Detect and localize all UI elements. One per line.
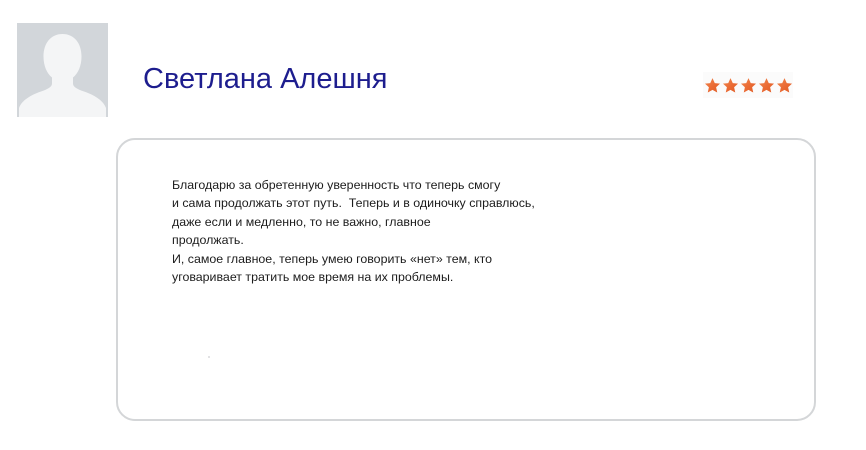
testimonial-body: Благодарю за обретенную уверенность что … bbox=[172, 176, 772, 286]
profile-header: Светлана Алешня bbox=[0, 0, 866, 130]
star-icon bbox=[776, 77, 793, 93]
reviewer-name: Светлана Алешня bbox=[143, 61, 387, 97]
star-icon bbox=[740, 77, 757, 93]
star-icon bbox=[704, 77, 721, 93]
rating-stars bbox=[703, 72, 793, 98]
testimonial-card: Благодарю за обретенную уверенность что … bbox=[116, 138, 816, 421]
stray-mark bbox=[208, 356, 210, 358]
avatar bbox=[17, 23, 108, 117]
star-icon bbox=[722, 77, 739, 93]
testimonial-page: Светлана Алешня bbox=[0, 0, 866, 450]
person-placeholder-icon bbox=[17, 23, 108, 117]
star-icon bbox=[758, 77, 775, 93]
